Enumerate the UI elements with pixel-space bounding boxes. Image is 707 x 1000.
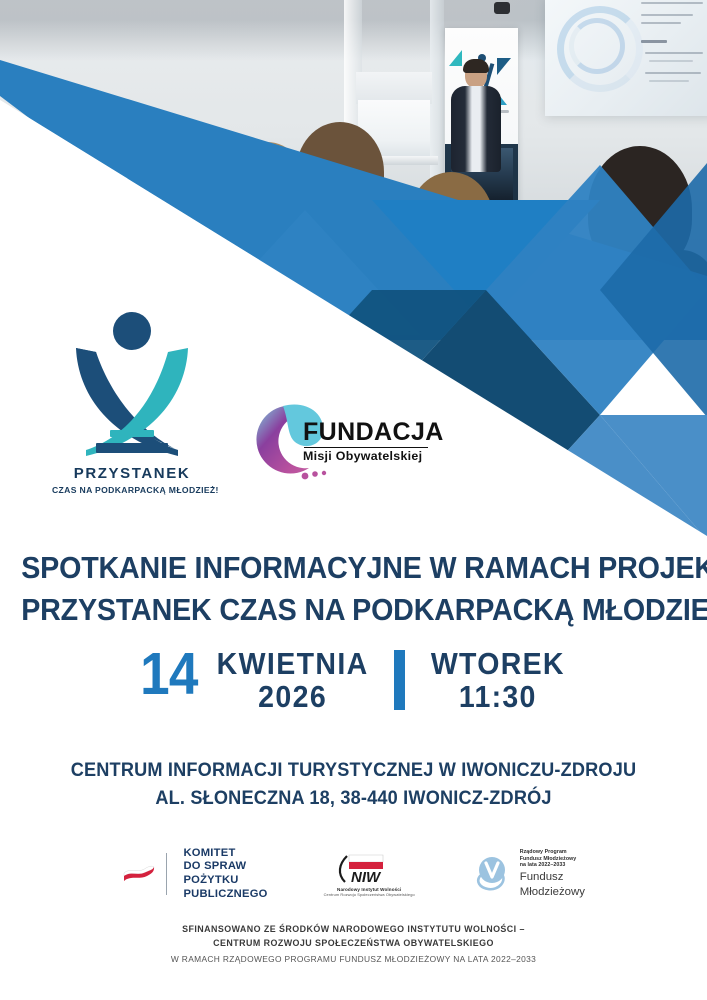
event-month-year: KWIETNIA 2026 (210, 648, 375, 714)
audience-member (124, 158, 216, 264)
niw-glyph-icon: NIW (333, 852, 405, 886)
fundacja-rule (304, 447, 428, 449)
slide-text-line (641, 2, 703, 4)
komitet-wordmark: KOMITET DO SPRAW POŻYTKU PUBLICZNEGO (183, 847, 267, 901)
fundusz-wordmark: Rządowy Program Fundusz Młodzieżowy na l… (520, 849, 585, 900)
niw-subname: Centrum Rozwoju Społeczeństwa Obywatelsk… (324, 892, 415, 897)
niw-swoosh (340, 856, 347, 882)
niw-name: Narodowy Instytut Wolności (324, 887, 415, 892)
datetime-divider (394, 650, 405, 710)
niw-acronym-text: NIW (351, 869, 382, 886)
niw-logo: NIW Narodowy Instytut Wolności Centrum R… (324, 852, 415, 897)
funding-logos: KOMITET DO SPRAW POŻYTKU PUBLICZNEGO NIW… (0, 843, 707, 905)
organizer-logos: PRZYSTANEK CZAS NA PODKARPACKĄ MŁODZIEŻ! (0, 298, 707, 528)
fundacja-line2: Misji Obywatelskiej (303, 450, 444, 462)
slide-text-line (649, 80, 689, 82)
event-day: 14 (140, 648, 197, 701)
slide-heading-line (641, 40, 667, 43)
presenter-hair (463, 59, 489, 73)
financing-note: SFINANSOWANO ZE ŚRODKÓW NARODOWEGO INSTY… (0, 922, 707, 964)
audience-member (296, 122, 384, 222)
fundusz-big-line-2: Młodzieżowy (520, 886, 585, 899)
fundacja-line1: FUNDACJA (303, 420, 444, 445)
poster-title: SPOTKANIE INFORMACYJNE W RAMACH PROJEKTU… (21, 548, 686, 632)
fundacja-logo: FUNDACJA Misji Obywatelskiej (243, 396, 423, 496)
niw-flag-white (349, 855, 383, 862)
event-month: KWIETNIA (217, 648, 369, 680)
slide-text-line (641, 22, 681, 24)
event-time: 11:30 (430, 680, 564, 715)
komitet-line-3: POŻYTKU (183, 874, 267, 888)
fundusz-mlodziezowy-logo: Rządowy Program Fundusz Młodzieżowy na l… (471, 849, 585, 900)
event-datetime: 14 KWIETNIA 2026 WTOREK 11:30 (0, 648, 707, 714)
audience-member (588, 146, 692, 272)
komitet-logo: KOMITET DO SPRAW POŻYTKU PUBLICZNEGO (122, 847, 268, 901)
komitet-divider (166, 853, 167, 895)
przystanek-logo-tagline: CZAS NA PODKARPACKĄ MŁODZIEŻ! (52, 485, 212, 495)
polish-flag-icon (122, 864, 156, 884)
komitet-line-2: DO SPRAW (183, 860, 267, 874)
fundusz-top-line-2: Fundusz Młodzieżowy (520, 856, 585, 863)
slide-text-line (641, 14, 693, 16)
niw-name-block: Narodowy Instytut Wolności Centrum Rozwo… (324, 887, 415, 897)
przystanek-logo-mark (52, 304, 212, 464)
figure-bar-navy (96, 443, 168, 453)
swoosh-dot (322, 471, 326, 475)
title-line-1: SPOTKANIE INFORMACYJNE W RAMACH PROJEKTU (21, 548, 686, 590)
swoosh-dot (312, 471, 318, 477)
fundusz-big-line-1: Fundusz (520, 871, 585, 884)
fundusz-top-line-3: na lata 2022–2033 (520, 862, 585, 869)
financing-line-3: W RAMACH RZĄDOWEGO PROGRAMU FUNDUSZ MŁOD… (0, 954, 707, 964)
komitet-line-4: PUBLICZNEGO (183, 888, 267, 902)
location-line-1: CENTRUM INFORMACJI TURYSTYCZNEJ W IWONIC… (25, 757, 683, 785)
fundusz-top-line-1: Rządowy Program (520, 849, 585, 856)
presenter-body (451, 86, 501, 172)
slide-ring-inner-graphic (569, 18, 625, 74)
poster-canvas: PRZYSTANEK CZAS NA PODKARPACKĄ MŁODZIEŻ! (0, 0, 707, 1000)
niw-flag-red (349, 862, 383, 869)
fundusz-circle (479, 857, 505, 883)
tablet-device (74, 196, 118, 232)
projection-screen (545, 0, 707, 116)
fundacja-wordmark: FUNDACJA Misji Obywatelskiej (303, 420, 444, 462)
header-photo (0, 0, 707, 340)
przystanek-logo: PRZYSTANEK CZAS NA PODKARPACKĄ MŁODZIEŻ! (52, 304, 212, 509)
ceiling-speaker-icon (494, 2, 510, 14)
event-weekday-time: WTOREK 11:30 (425, 648, 571, 714)
financing-line-1: SFINANSOWANO ZE ŚRODKÓW NARODOWEGO INSTY… (0, 922, 707, 936)
figure-bar-teal (110, 430, 154, 437)
swoosh-dot (302, 473, 309, 480)
title-line-2: PRZYSTANEK CZAS NA PODKARPACKĄ MŁODZIEŻ (21, 590, 686, 632)
slide-text-line (649, 60, 693, 62)
przystanek-logo-name: PRZYSTANEK (52, 465, 212, 482)
komitet-line-1: KOMITET (183, 847, 267, 861)
figure-head-icon (113, 312, 151, 350)
presenter-figure (449, 62, 503, 172)
slide-text-line (645, 72, 701, 74)
fundusz-v-icon (471, 853, 513, 895)
event-location: CENTRUM INFORMACJI TURYSTYCZNEJ W IWONIC… (25, 757, 683, 812)
event-weekday: WTOREK (430, 648, 564, 680)
financing-line-2: CENTRUM ROZWOJU SPOŁECZEŃSTWA OBYWATELSK… (0, 936, 707, 950)
event-year: 2026 (217, 680, 369, 715)
location-line-2: AL. SŁONECZNA 18, 38-440 IWONICZ-ZDRÓJ (25, 785, 683, 813)
slide-text-line (645, 52, 703, 54)
audience-member (408, 172, 494, 272)
